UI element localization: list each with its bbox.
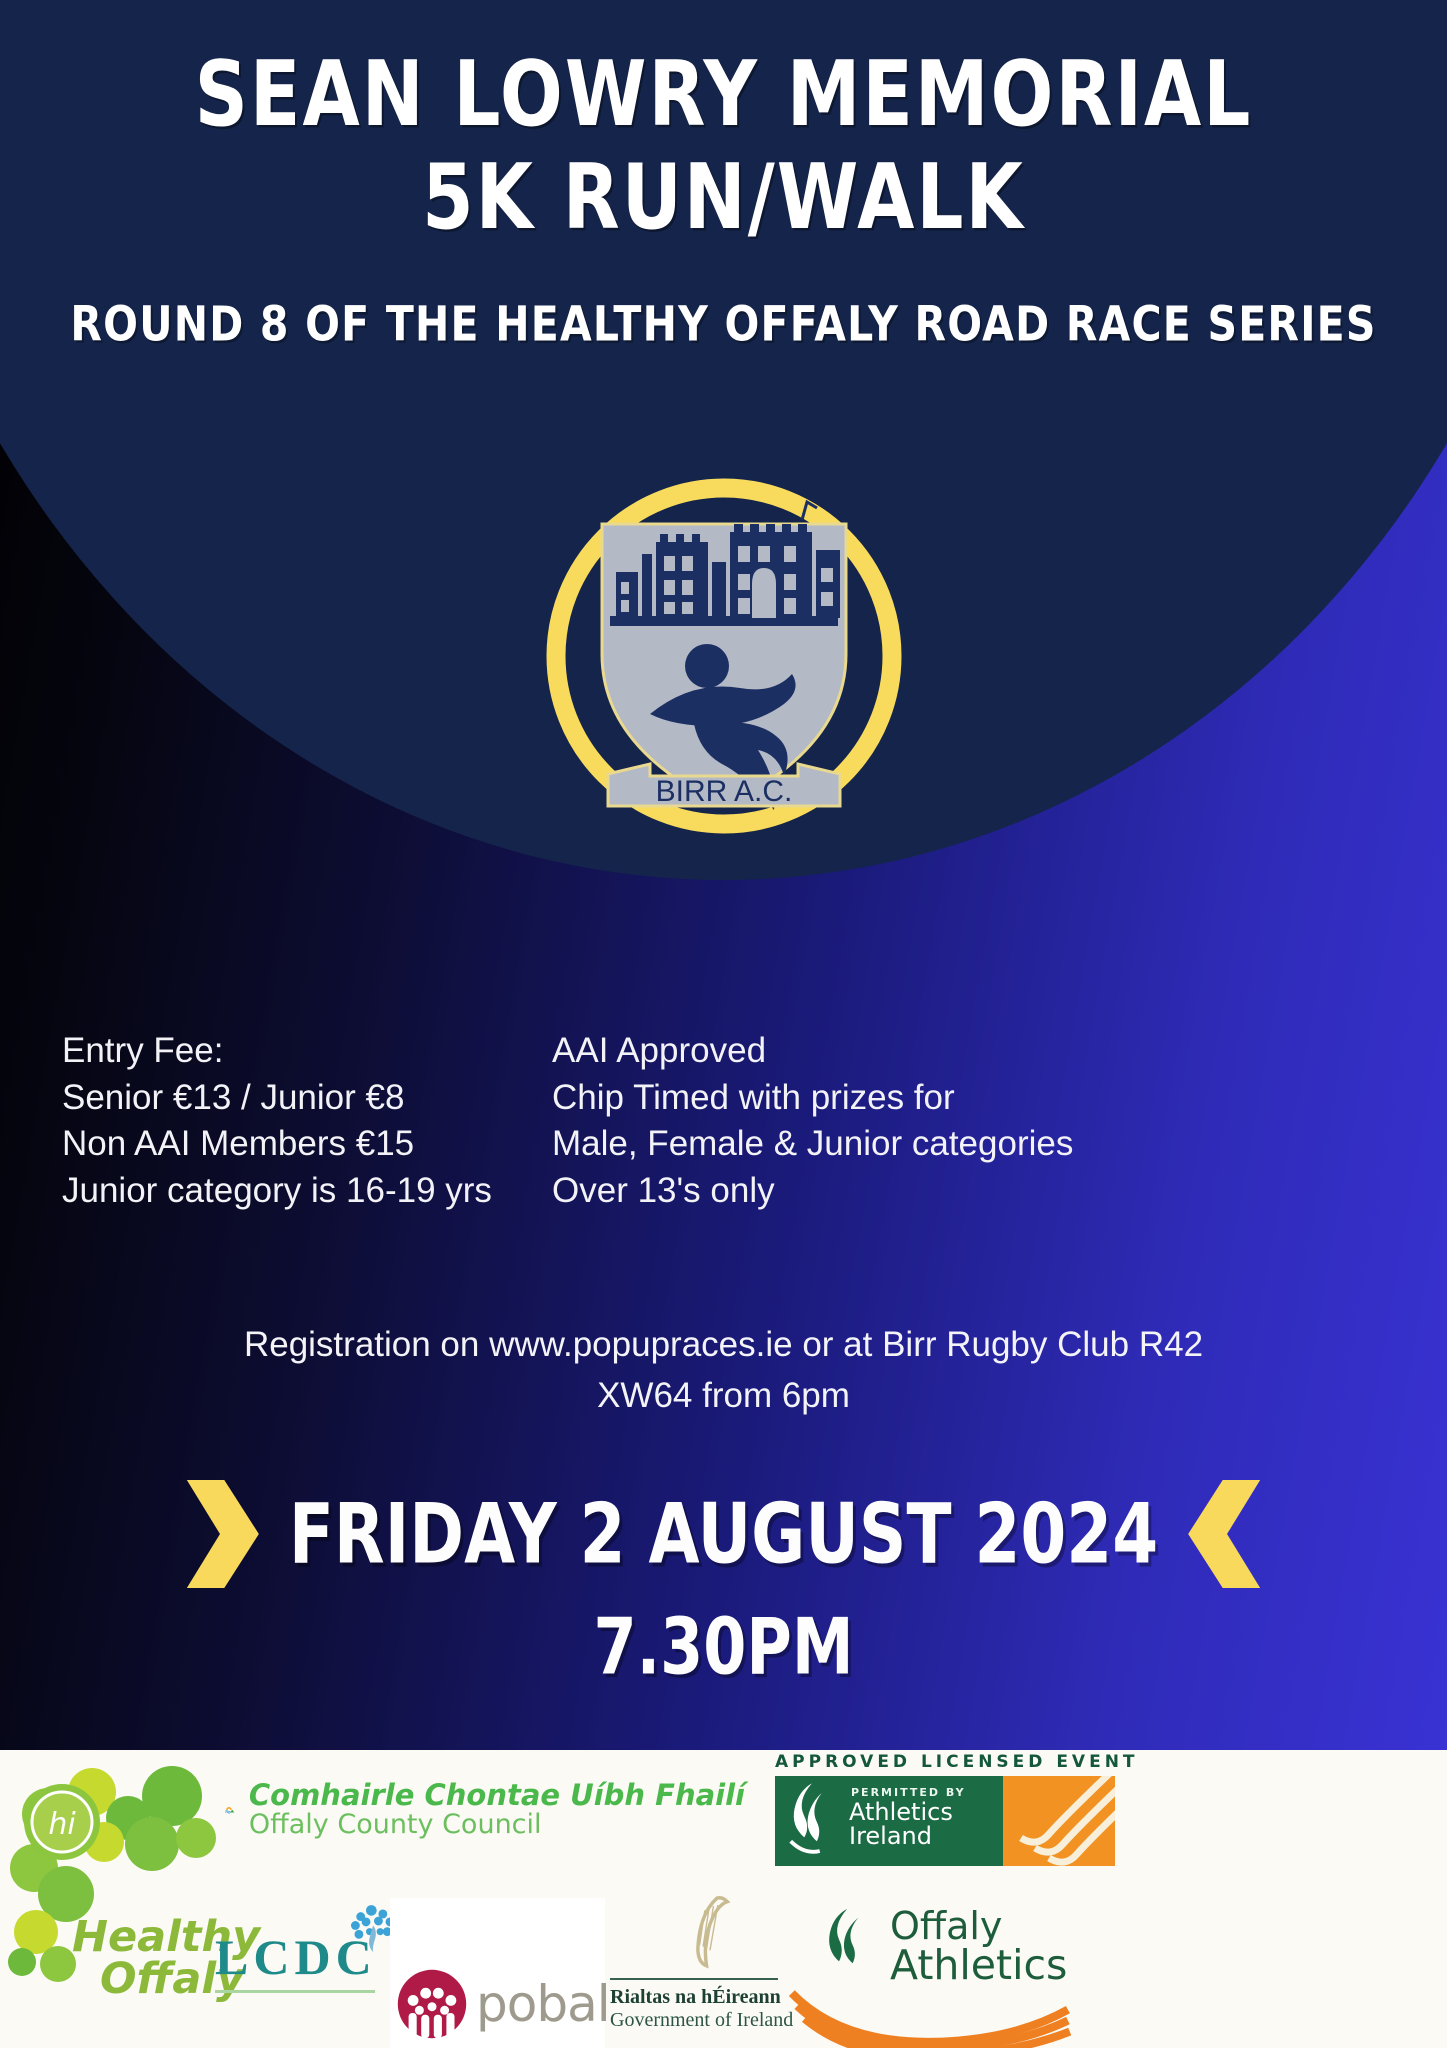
offaly-athletics-line-1: Offaly [890, 1907, 1067, 1945]
page-title: SEAN LOWRY MEMORIAL [0, 48, 1447, 142]
sponsor-offaly-athletics: Offaly Athletics [820, 1890, 1150, 2040]
offaly-council-english: Offaly County Council [249, 1811, 745, 1839]
age-restriction-note: Over 13's only [552, 1168, 1385, 1215]
poster-root: SEAN LOWRY MEMORIAL 5K RUN/WALK ROUND 8 … [0, 0, 1447, 2048]
healthy-ireland-monogram: hi [48, 1807, 76, 1842]
flame-icon [783, 1777, 841, 1865]
aai-approved-note: AAI Approved [552, 1028, 1385, 1075]
birr-ac-logo: BIRR A.C. [544, 476, 904, 836]
offaly-athletics-flame-icon [820, 1904, 878, 1988]
athletics-ireland-name-2: Ireland [849, 1824, 953, 1848]
athletics-ireland-name: Athletics Ireland [849, 1800, 953, 1848]
chevron-right-icon [187, 1480, 259, 1588]
series-round-label: ROUND 8 OF THE HEALTHY OFFALY ROAD RACE … [0, 296, 1447, 353]
prize-categories-note: Male, Female & Junior categories [552, 1121, 1385, 1168]
pobal-icon [396, 1968, 468, 2040]
chevron-left-icon [1188, 1480, 1260, 1588]
harp-icon [684, 1892, 736, 1972]
lcdc-underline [215, 1990, 375, 1993]
registration-line-2: XW64 from 6pm [80, 1371, 1367, 1422]
athletics-ireland-badge: PERMITTED BY Athletics Ireland [775, 1776, 1115, 1866]
approved-licensed-event-label: APPROVED LICENSED EVENT [775, 1752, 1115, 1772]
offaly-council-irish: Comhairle Chontae Uíbh Fhailí [249, 1781, 745, 1811]
event-time: 7.30PM [0, 1601, 1447, 1692]
offaly-athletics-line-2: Athletics [890, 1945, 1067, 1986]
event-details: Entry Fee: Senior €13 / Junior €8 Non AA… [62, 1028, 1385, 1214]
entry-fee-non-aai: Non AAI Members €15 [62, 1121, 552, 1168]
athletics-ireland-green-panel: PERMITTED BY Athletics Ireland [775, 1776, 1003, 1866]
registration-info: Registration on www.popupraces.ie or at … [80, 1320, 1367, 1422]
government-divider [610, 1978, 778, 1980]
event-date-banner: FRIDAY 2 AUGUST 2024 [0, 1480, 1447, 1588]
entry-fee-column: Entry Fee: Senior €13 / Junior €8 Non AA… [62, 1028, 552, 1214]
sponsor-healthy-offaly: hi Healthy Offaly [0, 1756, 250, 2006]
sponsor-lcdc: LCDC [215, 1928, 415, 2043]
headline-block: SEAN LOWRY MEMORIAL 5K RUN/WALK [0, 48, 1447, 228]
sponsor-athletics-ireland: APPROVED LICENSED EVENT PERMITTED BY Ath… [775, 1752, 1115, 1880]
page-subtitle-distance: 5K RUN/WALK [0, 151, 1447, 245]
entry-fee-senior-junior: Senior €13 / Junior €8 [62, 1075, 552, 1122]
sponsor-pobal: pobal [390, 1898, 605, 2048]
offaly-council-icon [225, 1763, 235, 1857]
castle-icon [610, 502, 840, 626]
athletics-ireland-name-1: Athletics [849, 1800, 953, 1824]
offaly-athletics-swoosh-icon [774, 1984, 1104, 2048]
sponsor-offaly-county-council: Comhairle Chontae Uíbh Fhailí Offaly Cou… [225, 1760, 745, 1860]
pobal-wordmark: pobal [476, 1975, 610, 2033]
chip-timed-note: Chip Timed with prizes for [552, 1075, 1385, 1122]
race-info-column: AAI Approved Chip Timed with prizes for … [552, 1028, 1385, 1214]
athletics-ireland-orange-panel [1003, 1776, 1115, 1866]
registration-line-1: Registration on www.popupraces.ie or at … [80, 1320, 1367, 1371]
junior-category-range: Junior category is 16-19 yrs [62, 1168, 552, 1215]
birr-ac-logo-svg: BIRR A.C. [544, 476, 904, 836]
event-date: FRIDAY 2 AUGUST 2024 [289, 1486, 1158, 1582]
track-swoosh-icon [1003, 1776, 1115, 1866]
offaly-council-wordmark: Comhairle Chontae Uíbh Fhailí Offaly Cou… [249, 1781, 745, 1838]
entry-fee-label: Entry Fee: [62, 1028, 552, 1075]
birr-ac-label: BIRR A.C. [655, 775, 792, 808]
offaly-athletics-wordmark: Offaly Athletics [890, 1907, 1067, 1986]
sponsor-band: hi Healthy Offaly Comhairle Chontae Uíbh… [0, 1750, 1447, 2048]
